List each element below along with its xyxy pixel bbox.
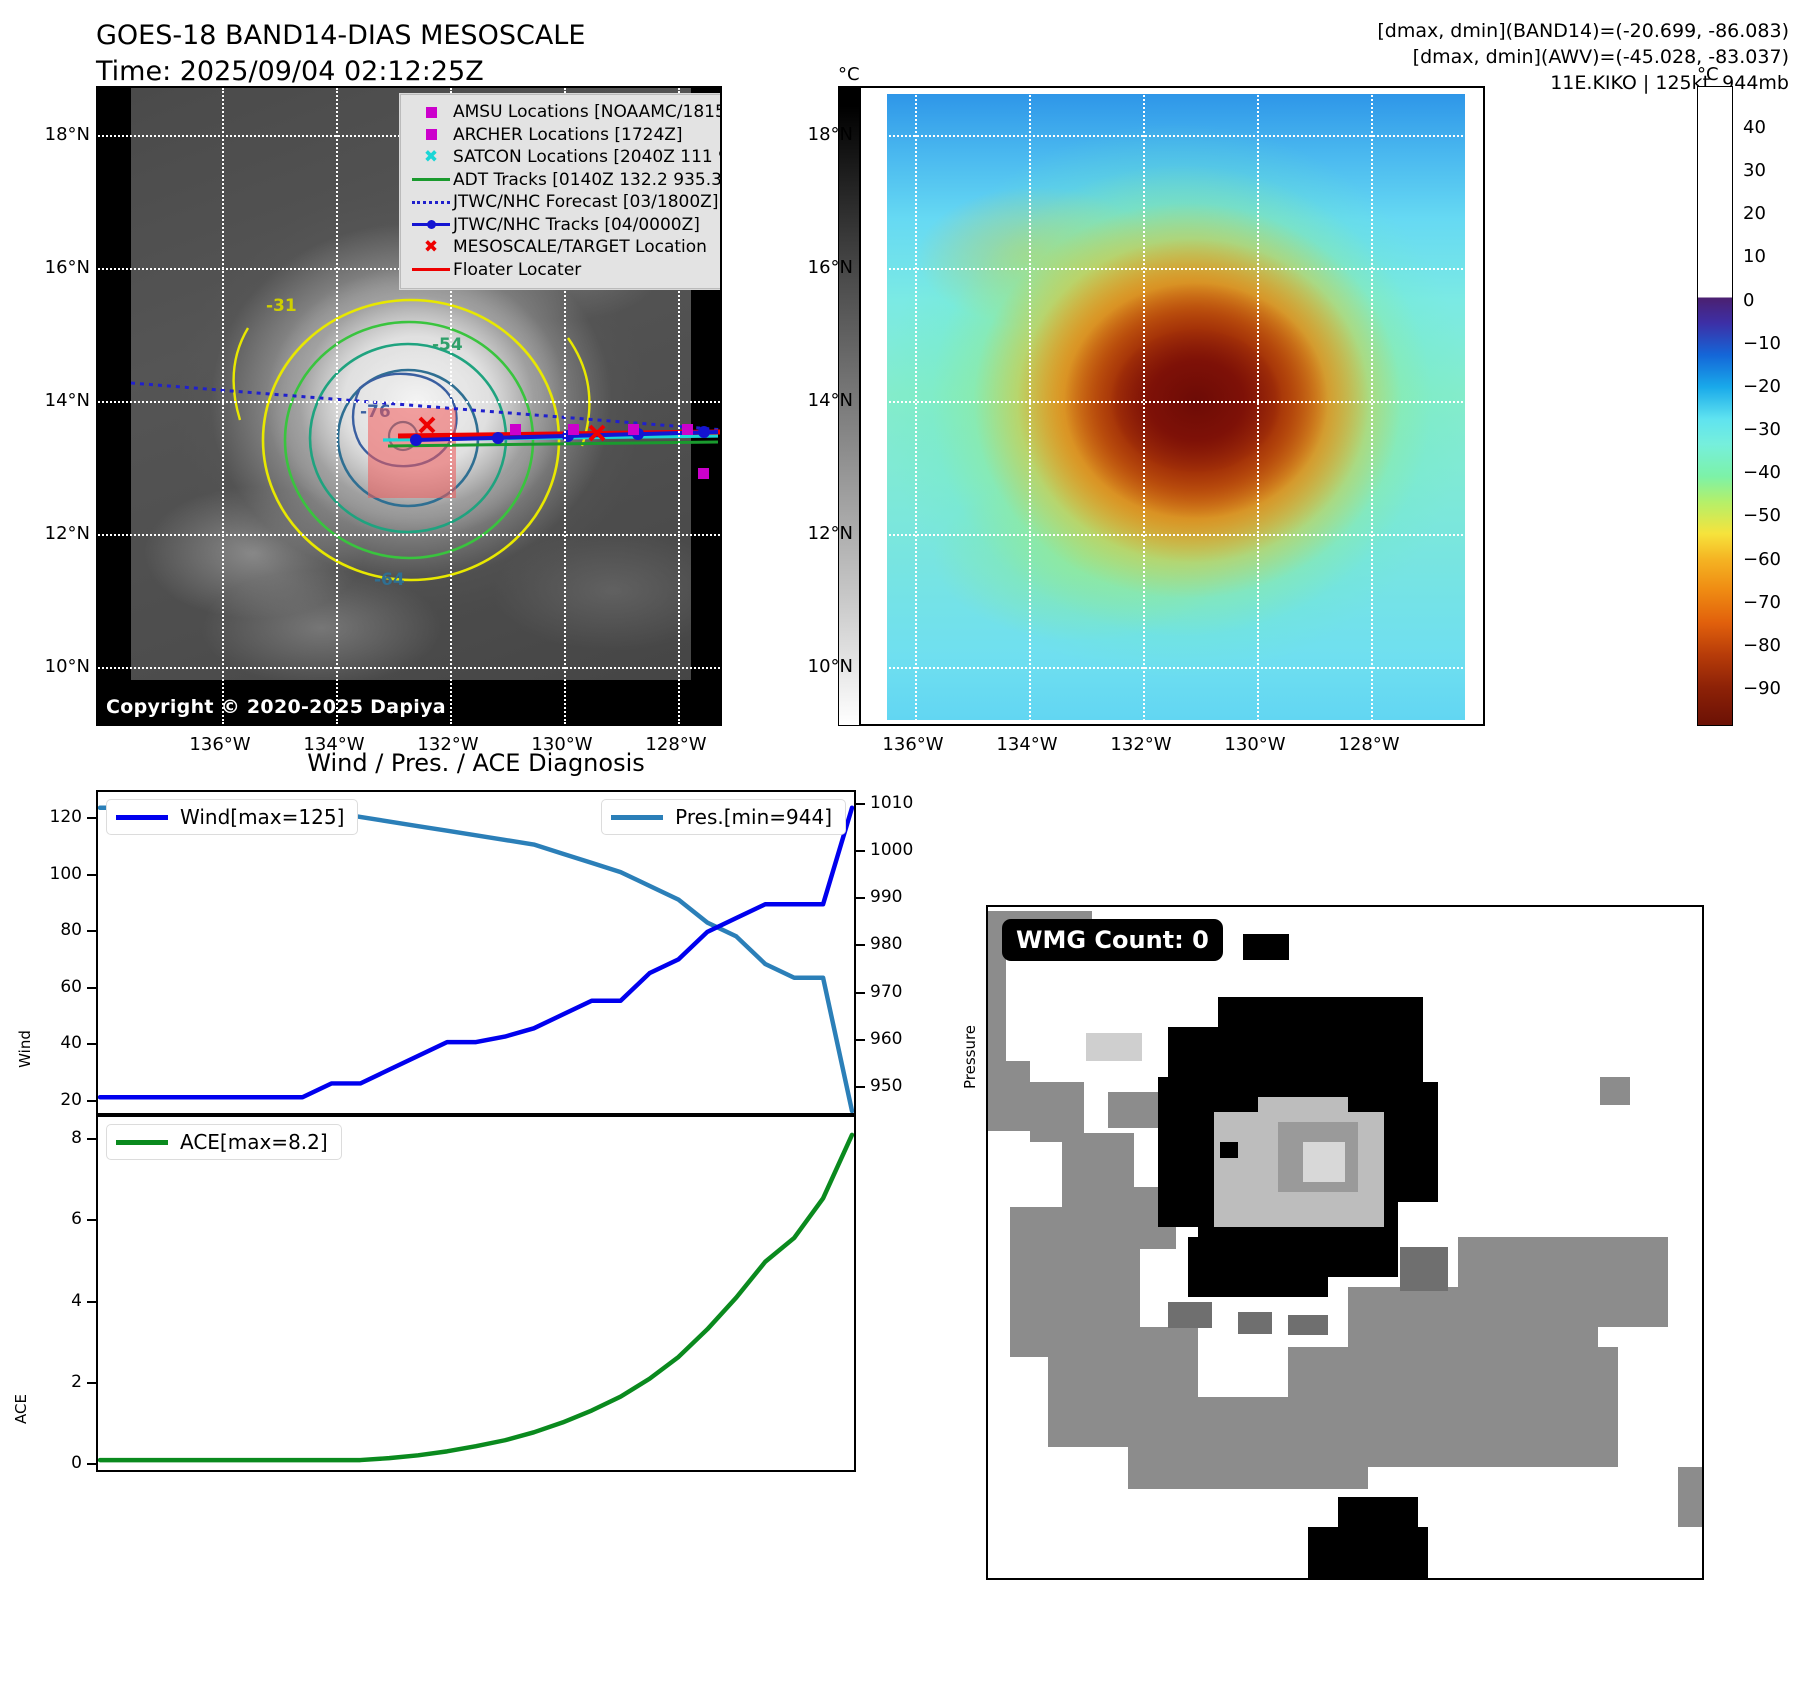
wind-axis-label: Wind — [16, 1030, 34, 1068]
ir-lat-label: 14°N — [20, 390, 90, 411]
forecast-dotted-line-icon — [409, 201, 453, 204]
wind-legend[interactable]: Wind[max=125] — [106, 799, 358, 835]
pressure-axis-label: Pressure — [961, 1025, 979, 1089]
diagnosis-title: Wind / Pres. / ACE Diagnosis — [96, 749, 856, 777]
axis-tick-label: 40 — [60, 1033, 82, 1053]
dmax-dmin-awv: [dmax, dmin](AWV)=(-45.028, -83.037) — [1377, 44, 1789, 70]
ir-legend[interactable]: AMSU Locations [NOAAMC/1815Z 104 973] AR… — [400, 94, 722, 289]
ir-gridline-h — [98, 667, 720, 669]
legend-label: Floater Locater — [453, 259, 581, 282]
axis-tick-mark — [87, 874, 96, 876]
axis-tick-mark — [856, 944, 865, 946]
legend-label: AMSU Locations [NOAAMC/1815Z 104 973] — [453, 101, 722, 124]
axis-tick-label: 60 — [60, 977, 82, 997]
awv-colorbar-units: °C — [1697, 64, 1719, 85]
ace-plot — [98, 1117, 854, 1470]
metadata-block: [dmax, dmin](BAND14)=(-20.699, -86.083) … — [1377, 18, 1789, 96]
legend-label: JTWC/NHC Tracks [04/0000Z] — [453, 214, 700, 237]
awv-lat-label: 12°N — [783, 523, 853, 544]
awv-lon-label: 136°W — [853, 734, 973, 755]
legend-item-adt: ADT Tracks [0140Z 132.2 935.3] — [409, 169, 722, 192]
axis-tick-mark — [856, 1039, 865, 1041]
ir-lat-label: 12°N — [20, 523, 90, 544]
awv-lat-label: 14°N — [783, 390, 853, 411]
legend-item-floater: Floater Locater — [409, 259, 722, 282]
copyright-text: Copyright © 2020-2025 Dapiya — [106, 696, 446, 718]
pressure-legend-label: Pres.[min=944] — [675, 805, 832, 829]
awv-gridline-v — [1029, 88, 1031, 724]
axis-tick-mark — [87, 930, 96, 932]
awv-cb-tick: −40 — [1743, 462, 1781, 483]
awv-gridline-v — [1371, 88, 1373, 724]
axis-tick-label: 120 — [50, 807, 82, 827]
awv-cb-tick: −70 — [1743, 592, 1781, 613]
awv-colorbar[interactable] — [1697, 86, 1733, 726]
axis-tick-label: 950 — [870, 1076, 902, 1096]
ir-lat-label: 18°N — [20, 124, 90, 145]
awv-cb-tick: −80 — [1743, 635, 1781, 656]
awv-cb-tick: −30 — [1743, 419, 1781, 440]
awv-lon-label: 130°W — [1195, 734, 1315, 755]
legend-label: ADT Tracks [0140Z 132.2 935.3] — [453, 169, 722, 192]
awv-lat-label: 18°N — [783, 124, 853, 145]
awv-lat-label: 10°N — [783, 656, 853, 677]
axis-tick-label: 0 — [71, 1453, 82, 1473]
axis-tick-label: 20 — [60, 1090, 82, 1110]
axis-tick-mark — [856, 897, 865, 899]
axis-tick-label: 990 — [870, 887, 902, 907]
axis-tick-label: 2 — [71, 1372, 82, 1392]
legend-item-satcon: ✖ SATCON Locations [2040Z 111 962] — [409, 146, 722, 169]
axis-tick-mark — [856, 850, 865, 852]
wmg-count-badge: WMG Count: 0 — [1002, 919, 1223, 961]
ir-gridline-v — [222, 88, 224, 724]
legend-item-forecast: JTWC/NHC Forecast [03/1800Z] — [409, 191, 722, 214]
awv-gridline-h — [861, 534, 1483, 536]
axis-tick-mark — [87, 1138, 96, 1140]
ace-legend-label: ACE[max=8.2] — [180, 1130, 328, 1154]
awv-cb-tick: 10 — [1743, 246, 1766, 267]
floater-line-icon — [409, 268, 453, 271]
wmg-panel[interactable]: WMG Count: 0 — [986, 905, 1704, 1580]
awv-lon-label: 134°W — [967, 734, 1087, 755]
wind-pressure-plot — [98, 792, 854, 1113]
awv-cb-tick: −10 — [1743, 333, 1781, 354]
tracks-line-marker-icon — [409, 223, 453, 226]
legend-label: ARCHER Locations [1724Z] — [453, 124, 683, 147]
axis-tick-label: 8 — [71, 1128, 82, 1148]
mesoscale-x-icon: ✖ — [409, 239, 453, 256]
awv-cb-tick: −50 — [1743, 505, 1781, 526]
awv-cb-tick: 30 — [1743, 160, 1766, 181]
ir-gridline-v — [336, 88, 338, 724]
axis-tick-mark — [87, 1043, 96, 1045]
axis-tick-label: 970 — [870, 982, 902, 1002]
axis-tick-mark — [856, 803, 865, 805]
axis-tick-mark — [856, 992, 865, 994]
awv-cb-tick: −20 — [1743, 376, 1781, 397]
dmax-dmin-band14: [dmax, dmin](BAND14)=(-20.699, -86.083) — [1377, 18, 1789, 44]
axis-tick-label: 1000 — [870, 840, 913, 860]
axis-tick-label: 980 — [870, 934, 902, 954]
wmg-bitmap — [988, 907, 1702, 1578]
axis-tick-mark — [87, 817, 96, 819]
ir-lat-label: 16°N — [20, 257, 90, 278]
axis-tick-mark — [87, 1463, 96, 1465]
awv-gridline-h — [861, 401, 1483, 403]
page-title: GOES-18 BAND14-DIAS MESOSCALE Time: 2025… — [96, 18, 585, 90]
adt-line-icon — [409, 178, 453, 181]
awv-gridline-h — [861, 268, 1483, 270]
axis-tick-label: 1010 — [870, 793, 913, 813]
awv-lon-label: 128°W — [1309, 734, 1429, 755]
ace-axis-label: ACE — [12, 1394, 30, 1424]
awv-cb-tick: 20 — [1743, 203, 1766, 224]
legend-item-tracks: JTWC/NHC Tracks [04/0000Z] — [409, 214, 722, 237]
ir-colorbar-units: °C — [838, 64, 860, 85]
axis-tick-mark — [87, 1219, 96, 1221]
awv-gridline-h — [861, 135, 1483, 137]
legend-label: SATCON Locations [2040Z 111 962] — [453, 146, 722, 169]
axis-tick-label: 4 — [71, 1291, 82, 1311]
legend-item-mesoscale: ✖ MESOSCALE/TARGET Location — [409, 236, 722, 259]
wind-pressure-chart[interactable]: Wind[max=125] Pres.[min=944] — [96, 790, 856, 1115]
axis-tick-label: 100 — [50, 864, 82, 884]
ir-gridline-h — [98, 401, 720, 403]
ace-legend[interactable]: ACE[max=8.2] — [106, 1124, 342, 1160]
axis-tick-mark — [87, 1382, 96, 1384]
ir-gridline-h — [98, 534, 720, 536]
axis-tick-mark — [87, 987, 96, 989]
axis-tick-mark — [87, 1100, 96, 1102]
awv-cb-tick: 0 — [1743, 290, 1754, 311]
awv-gridline-v — [1143, 88, 1145, 724]
axis-tick-label: 6 — [71, 1209, 82, 1229]
awv-storm-imagery — [887, 94, 1465, 720]
ace-chart[interactable]: ACE[max=8.2] — [96, 1115, 856, 1472]
axis-tick-mark — [87, 1301, 96, 1303]
awv-lat-label: 16°N — [783, 257, 853, 278]
satcon-x-icon: ✖ — [409, 149, 453, 166]
legend-item-amsu: AMSU Locations [NOAAMC/1815Z 104 973] — [409, 101, 722, 124]
awv-lon-label: 132°W — [1081, 734, 1201, 755]
awv-gridline-v — [1257, 88, 1259, 724]
wind-legend-label: Wind[max=125] — [180, 805, 344, 829]
awv-cb-tick: 40 — [1743, 117, 1766, 138]
awv-gridline-v — [915, 88, 917, 724]
axis-tick-label: 960 — [870, 1029, 902, 1049]
title-line-2: Time: 2025/09/04 02:12:25Z — [96, 54, 585, 90]
archer-square-icon — [409, 129, 453, 140]
awv-gridline-h — [861, 667, 1483, 669]
ir-band14-panel[interactable]: -31 -54 -76 -64 Copyright © 2020-2025 Da… — [96, 86, 722, 726]
ir-lat-label: 10°N — [20, 656, 90, 677]
pressure-legend[interactable]: Pres.[min=944] — [601, 799, 846, 835]
awv-cb-tick: −60 — [1743, 549, 1781, 570]
axis-tick-label: 80 — [60, 920, 82, 940]
awv-cb-tick: −90 — [1743, 678, 1781, 699]
axis-tick-mark — [856, 1086, 865, 1088]
legend-label: MESOSCALE/TARGET Location — [453, 236, 707, 259]
awv-satellite-image — [861, 88, 1483, 724]
awv-panel[interactable] — [859, 86, 1485, 726]
legend-item-archer: ARCHER Locations [1724Z] — [409, 124, 722, 147]
legend-label: JTWC/NHC Forecast [03/1800Z] — [453, 191, 718, 214]
amsu-square-icon — [409, 107, 453, 118]
title-line-1: GOES-18 BAND14-DIAS MESOSCALE — [96, 18, 585, 54]
